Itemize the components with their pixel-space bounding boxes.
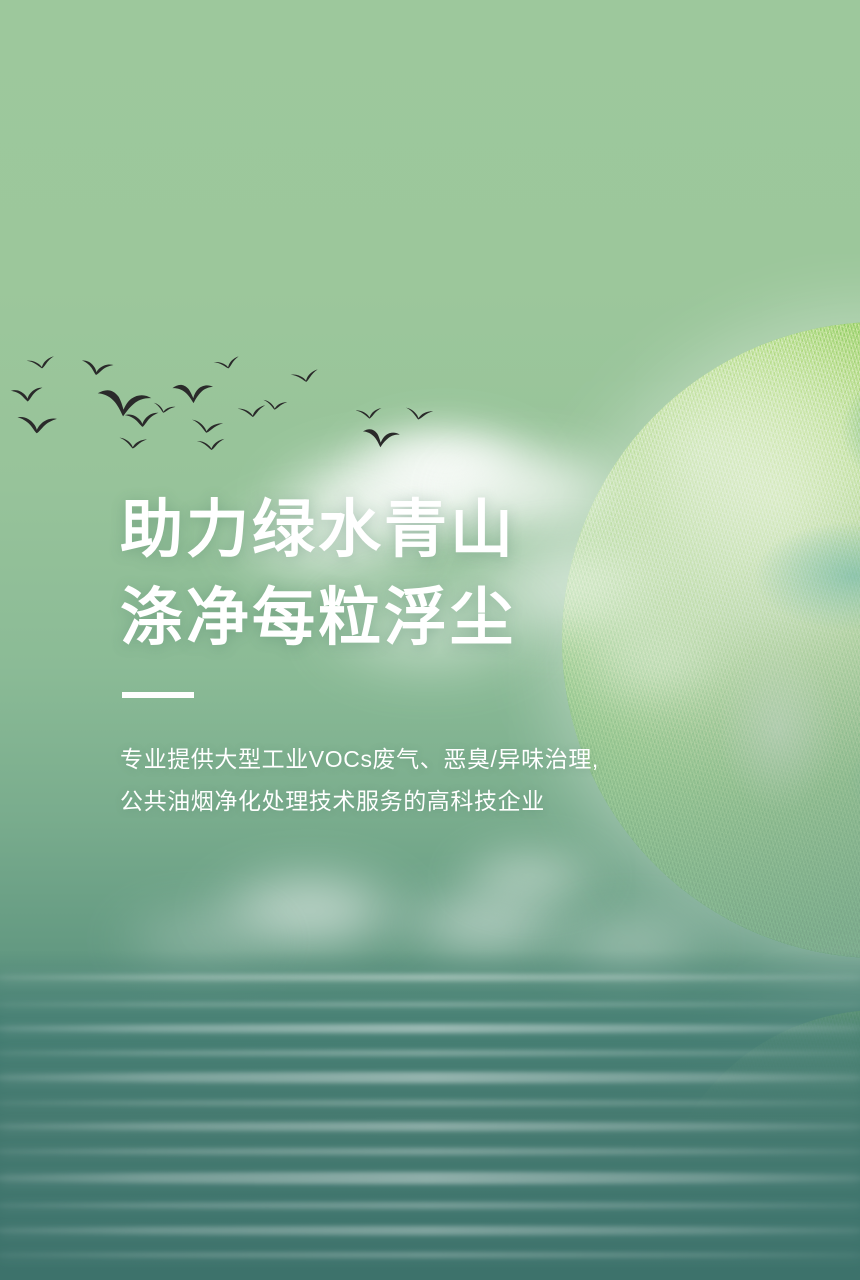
water-surface — [0, 950, 860, 1280]
bird-icon — [151, 400, 177, 416]
wave-highlight — [0, 1226, 860, 1235]
wave-highlight — [0, 1172, 860, 1184]
bird-icon — [9, 384, 44, 403]
bird-icon — [189, 416, 224, 435]
bird-icon — [289, 365, 322, 387]
subtitle-line-1: 专业提供大型工业VOCs废气、恶臭/异味治理, — [120, 738, 660, 780]
headline-line-1: 助力绿水青山 — [120, 486, 660, 574]
bird-icon — [354, 405, 383, 422]
bird-icon — [79, 357, 115, 379]
bird-icon — [212, 353, 243, 373]
bird-icon — [236, 402, 268, 420]
bird-icon — [261, 397, 288, 412]
cloud — [440, 836, 620, 916]
bird-icon — [123, 409, 160, 429]
bird-icon — [357, 426, 404, 449]
bird-icon — [16, 413, 59, 434]
wave-highlight — [0, 1122, 860, 1131]
bird-icon — [403, 404, 435, 423]
bird-icon — [195, 436, 226, 453]
wave-highlight — [0, 1002, 860, 1007]
flying-birds-flock — [0, 0, 860, 560]
wave-highlight — [0, 1100, 860, 1106]
wave-highlight — [0, 974, 860, 981]
bird-icon — [94, 378, 153, 428]
headline-line-2: 涤净每粒浮尘 — [120, 574, 660, 662]
wave-highlight — [0, 1024, 860, 1033]
bird-icon — [167, 381, 218, 406]
wave-highlight — [0, 1148, 860, 1155]
wave-highlight — [0, 1252, 860, 1258]
wave-highlight — [0, 1072, 860, 1083]
poster-copy: 助力绿水青山 涤净每粒浮尘 专业提供大型工业VOCs废气、恶臭/异味治理, 公共… — [120, 486, 660, 822]
bird-icon — [118, 434, 149, 451]
bird-icon — [25, 353, 57, 373]
poster-canvas: 助力绿水青山 涤净每粒浮尘 专业提供大型工业VOCs废气、恶臭/异味治理, 公共… — [0, 0, 860, 1280]
subtitle-line-2: 公共油烟净化处理技术服务的高科技企业 — [120, 780, 660, 822]
wave-highlight — [0, 1202, 860, 1209]
headline-divider — [122, 692, 194, 698]
wave-highlight — [0, 1050, 860, 1056]
